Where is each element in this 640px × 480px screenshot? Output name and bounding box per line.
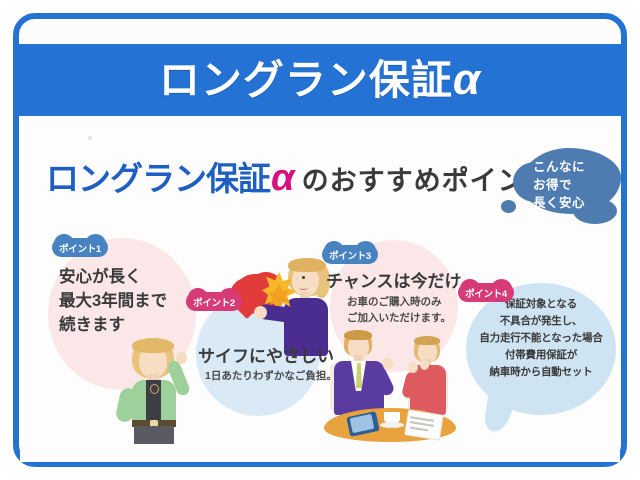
callout-line-1: こんなに xyxy=(533,159,617,177)
point-1-heading: 安心が長く 最大3年間まで 続きます xyxy=(59,266,167,338)
illustration-two-people-at-table xyxy=(320,330,460,442)
subtitle: ロングラン保証 α のおすすめポイント xyxy=(46,152,554,200)
point-2-badge: ポイント2 xyxy=(186,288,242,313)
callout-text: こんなに お得で 長く安心 xyxy=(533,159,617,212)
point-1-heading-line-3: 続きます xyxy=(59,314,167,338)
point-2-subtext-line-1: 1日あたりわずかなご負担。 xyxy=(205,369,337,385)
point-3-subtext: お車のご購入時のみ ご加入いただけます。 xyxy=(347,295,451,327)
point-1-heading-line-1: 安心が長く xyxy=(59,266,167,290)
page-title-alpha: α xyxy=(453,55,481,104)
callout-bubble: こんなに お得で 長く安心 xyxy=(513,148,621,221)
illustration-woman-green-cardigan xyxy=(110,338,196,446)
page-title-main: ロングラン保証 xyxy=(159,57,453,103)
callout-tail-dot xyxy=(501,200,516,213)
point-4-badge: ポイント4 xyxy=(458,279,514,304)
header-band: ロングラン保証α xyxy=(19,44,621,116)
point-2-heading-line-1: サイフにやさしい xyxy=(198,345,334,370)
point-4-line-5: 納車時から自動セット xyxy=(466,364,616,381)
point-3-heading: チャンスは今だけ xyxy=(326,270,462,295)
point-1-badge-label: ポイント1 xyxy=(52,238,108,257)
point-4-line-3: 自力走行不能となった場合 xyxy=(466,330,616,347)
point-3-subtext-line-2: ご加入いただけます。 xyxy=(347,311,451,327)
point-3-badge-label: ポイント3 xyxy=(322,245,378,264)
point-2-subtext: 1日あたりわずかなご負担。 xyxy=(205,369,337,385)
subtitle-brand-alpha: α xyxy=(271,157,295,200)
page-title: ロングラン保証α xyxy=(159,58,481,102)
subtitle-brand: ロングラン保証 xyxy=(46,152,270,200)
point-2-badge-label: ポイント2 xyxy=(186,292,242,311)
point-3-subtext-line-1: お車のご購入時のみ xyxy=(347,295,451,311)
point-1-heading-line-2: 最大3年間まで xyxy=(59,290,167,314)
point-4-line-4: 付帯費用保証が xyxy=(466,347,616,364)
point-1-badge: ポイント1 xyxy=(52,234,108,259)
point-3-heading-line-1: チャンスは今だけ xyxy=(326,270,462,295)
point-4-line-2: 不具合が発生し、 xyxy=(466,313,616,330)
point-4-text: 保証対象となる 不具合が発生し、 自力走行不能となった場合 付帯費用保証が 納車… xyxy=(466,296,616,381)
callout-line-2: お得で xyxy=(533,177,617,195)
point-3-badge: ポイント3 xyxy=(322,241,378,266)
point-4-badge-label: ポイント4 xyxy=(458,283,514,302)
poster-root: ロングラン保証α ロングラン保証 α のおすすめポイント こんなに お得で 長く… xyxy=(0,0,640,480)
callout-line-3: 長く安心 xyxy=(533,195,617,213)
artifact-speck xyxy=(88,136,92,140)
point-2-heading: サイフにやさしい xyxy=(198,345,334,370)
bottom-spacer xyxy=(20,444,620,462)
